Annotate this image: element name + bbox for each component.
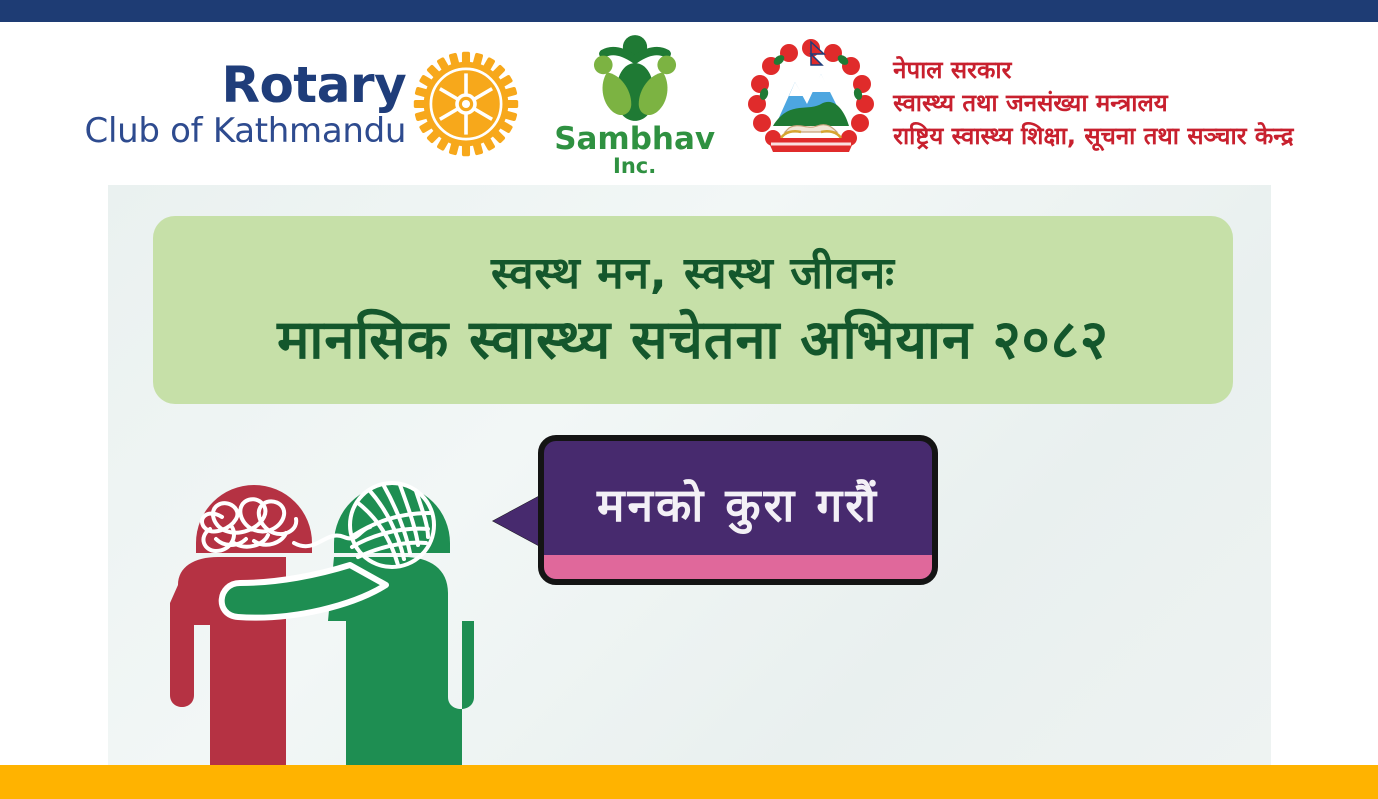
sambhav-people-icon [579, 30, 691, 126]
header-logo-strip: Rotary Club of Kathmandu [0, 22, 1378, 185]
speech-bubble: मनको कुरा गरौं [493, 435, 945, 595]
government-logo-lockup: नेपाल सरकार स्वास्थ्य तथा जनसंख्या मन्त्… [741, 29, 1293, 179]
campaign-title-line-2: मानसिक स्वास्थ्य सचेतना अभियान २०८२ [277, 309, 1109, 371]
sambhav-suffix: Inc. [613, 156, 656, 177]
nepal-government-emblem-icon [741, 34, 881, 174]
campaign-title-line-1: स्वस्थ मन, स्वस्थ जीवनः [491, 249, 895, 300]
sambhav-logo-lockup: Sambhav Inc. [554, 29, 715, 179]
top-accent-bar [0, 0, 1378, 22]
rotary-club-name: Club of Kathmandu [85, 114, 407, 148]
speech-bubble-body: मनको कुरा गरौं [538, 435, 938, 585]
two-people-illustration [118, 425, 538, 765]
campaign-poster-panel: स्वस्थ मन, स्वस्थ जीवनः मानसिक स्वास्थ्य… [108, 185, 1271, 765]
government-line-2: स्वास्थ्य तथा जनसंख्या मन्त्रालय [893, 87, 1293, 120]
rotary-logo-lockup: Rotary Club of Kathmandu [85, 34, 521, 174]
rotary-name: Rotary [221, 60, 406, 110]
bottom-accent-bar [0, 765, 1378, 799]
government-line-1: नेपाल सरकार [893, 54, 1293, 87]
government-line-3: राष्ट्रिय स्वास्थ्य शिक्षा, सूचना तथा सञ… [893, 120, 1293, 153]
person-tangled-thoughts-icon [170, 485, 312, 765]
sambhav-name: Sambhav [554, 124, 715, 155]
rotary-wordmark: Rotary Club of Kathmandu [85, 60, 407, 148]
campaign-title-card: स्वस्थ मन, स्वस्थ जीवनः मानसिक स्वास्थ्य… [153, 216, 1233, 404]
government-text-block: नेपाल सरकार स्वास्थ्य तथा जनसंख्या मन्त्… [893, 54, 1293, 153]
speech-bubble-text: मनको कुरा गरौं [597, 473, 879, 535]
rotary-wheel-icon [412, 50, 520, 158]
speech-bubble-accent-strip [544, 555, 932, 579]
